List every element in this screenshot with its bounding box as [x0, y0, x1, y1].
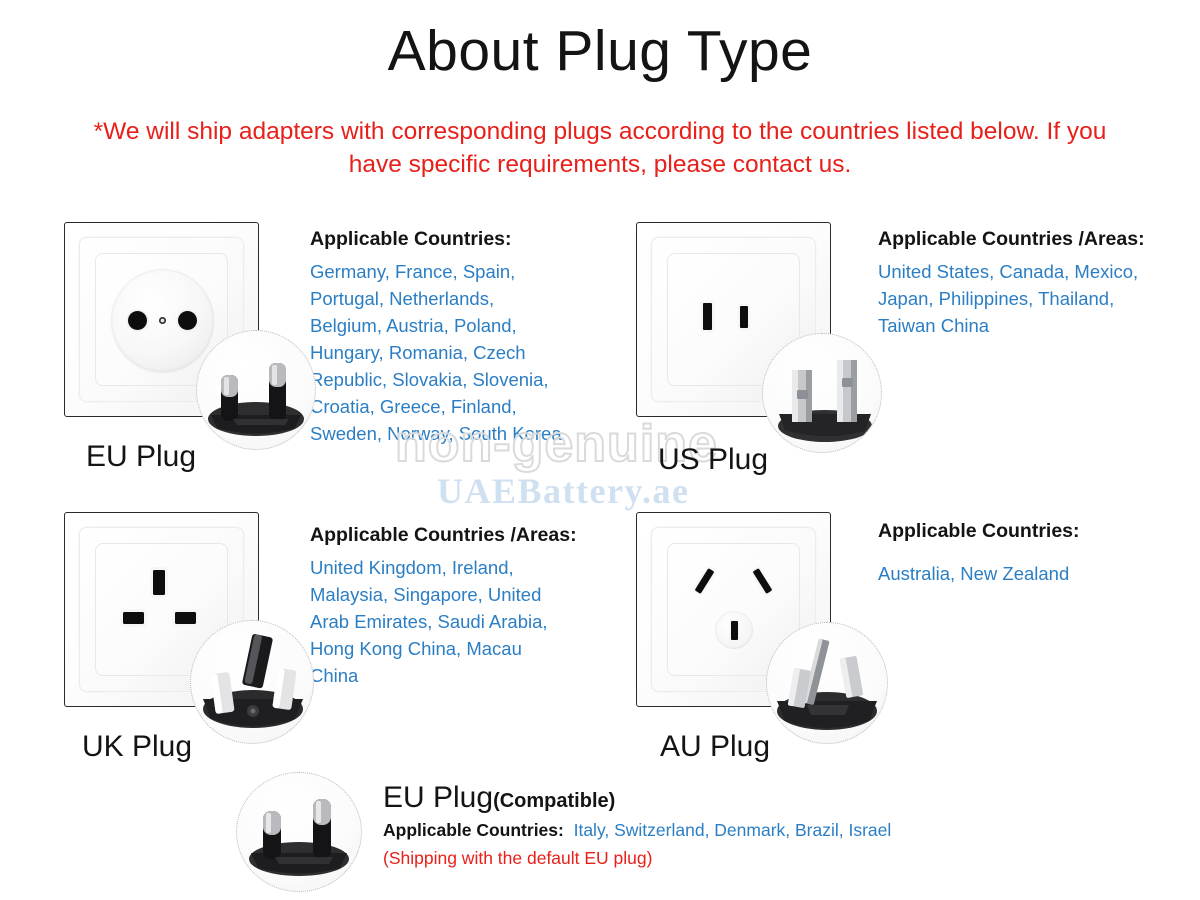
us-plug-photo-icon: [762, 333, 882, 453]
au-countries-heading: Applicable Countries:: [878, 520, 1080, 543]
us-socket-slot-right: [740, 306, 748, 328]
au-socket-slot-earth: [731, 621, 738, 640]
page-title: About Plug Type: [0, 22, 1200, 82]
eu-compatible-shipping-note: (Shipping with the default EU plug): [383, 848, 652, 869]
watermark-uaebattery: UAEBattery.ae: [437, 470, 689, 512]
eu-socket-hole-right: [178, 311, 197, 330]
shipping-note: *We will ship adapters with correspondin…: [70, 115, 1130, 181]
au-plug-photo-icon: [766, 622, 888, 744]
eu-compatible-label: EU Plug: [383, 781, 493, 814]
au-countries-list: Australia, New Zealand: [878, 560, 1158, 587]
au-socket-earth-recess: [715, 611, 753, 649]
us-countries-heading: Applicable Countries /Areas:: [878, 228, 1145, 251]
us-countries-list: United States, Canada, Mexico, Japan, Ph…: [878, 258, 1158, 339]
au-socket-slot-neutral: [753, 568, 773, 594]
au-plug-label: AU Plug: [660, 730, 770, 764]
eu-compatible-suffix: (Compatible): [493, 790, 615, 812]
eu-countries-heading: Applicable Countries:: [310, 228, 512, 251]
eu-compatible-countries-list: Italy, Switzerland, Denmark, Brazil, Isr…: [574, 820, 892, 840]
eu-compatible-countries-row: Applicable Countries: Italy, Switzerland…: [383, 820, 891, 841]
eu-socket-recess: [111, 269, 214, 372]
uk-socket-slot-neutral: [175, 612, 196, 624]
eu-compatible-plug-photo-icon: [236, 772, 362, 892]
uk-countries-heading: Applicable Countries /Areas:: [310, 524, 577, 547]
uk-socket-slot-earth: [153, 570, 165, 595]
uk-plug-photo-icon: [190, 620, 314, 744]
eu-socket-hole-left: [128, 311, 147, 330]
eu-socket-center-pin: [159, 317, 166, 324]
uk-socket-slot-live: [123, 612, 144, 624]
au-socket-slot-active: [695, 568, 715, 594]
eu-countries-list: Germany, France, Spain, Portugal, Nether…: [310, 258, 568, 447]
eu-plug-label: EU Plug: [86, 440, 196, 474]
eu-compatible-countries-heading: Applicable Countries:: [383, 820, 564, 840]
eu-plug-photo-icon: [196, 330, 316, 450]
eu-compatible-title: EU Plug(Compatible): [383, 781, 615, 815]
uk-plug-label: UK Plug: [82, 730, 192, 764]
us-socket-slot-left: [703, 303, 712, 330]
uk-countries-list: United Kingdom, Ireland, Malaysia, Singa…: [310, 554, 572, 689]
us-plug-label: US Plug: [658, 443, 768, 477]
